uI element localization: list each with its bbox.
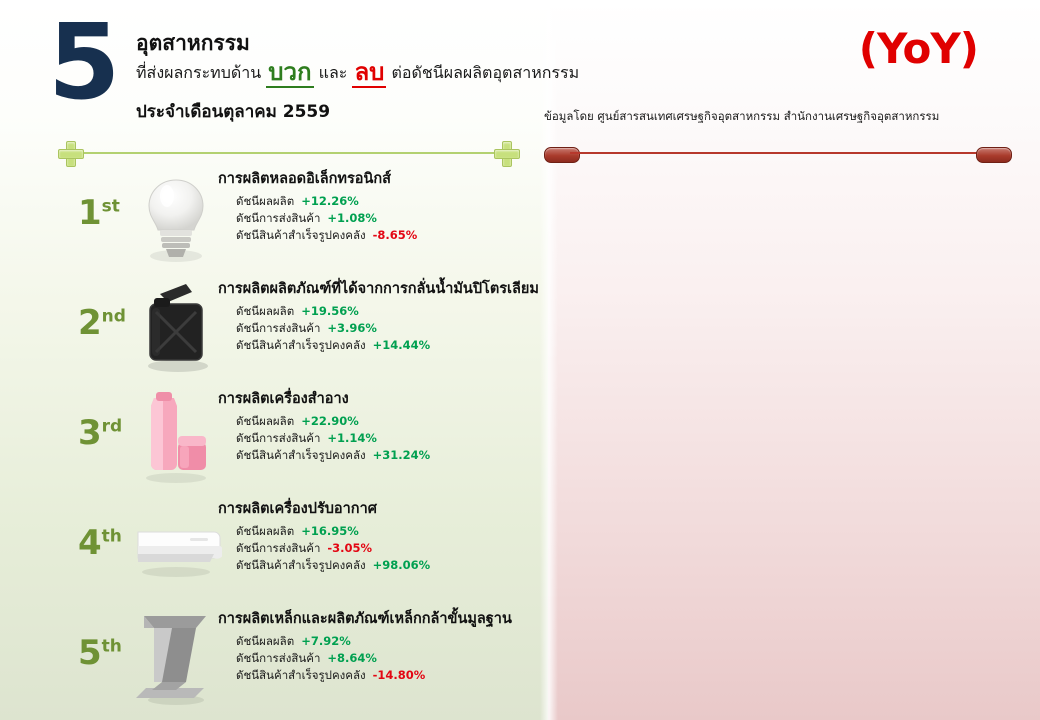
metric-row: ดัชนีสินค้าสำเร็จรูปคงคลัง+14.44%: [218, 337, 548, 354]
metric-row: ดัชนีสินค้าสำเร็จรูปคงคลัง-14.80%: [218, 667, 548, 684]
industry-name: การผลิตเครื่องปรับอากาศ: [218, 500, 548, 518]
industry-item: 1stการผลิตหลอดอิเล็กทรอนิกส์ดัชนีผลผลิต+…: [0, 162, 548, 272]
rank-badge: 2nd: [78, 306, 126, 340]
metric-value: +3.96%: [320, 321, 377, 335]
metric-label: ดัชนีผลผลิต: [236, 413, 294, 430]
rank-number: 2: [78, 303, 102, 343]
metric-label: ดัชนีสินค้าสำเร็จรูปคงคลัง: [236, 667, 366, 684]
metric-label: ดัชนีการส่งสินค้า: [236, 210, 320, 227]
metric-list: ดัชนีผลผลิต+16.95%ดัชนีการส่งสินค้า-3.05…: [218, 523, 548, 574]
metric-row: ดัชนีการส่งสินค้า+1.08%: [218, 210, 548, 227]
metric-row: ดัชนีการส่งสินค้า+8.64%: [218, 650, 548, 667]
industry-item: 3rdการผลิตเครื่องสำอางดัชนีผลผลิต+22.90%…: [0, 382, 548, 492]
fuel-can-icon: [130, 278, 222, 376]
headline-number: 5: [48, 10, 117, 114]
divider-rule: [570, 152, 986, 154]
metric-label: ดัชนีสินค้าสำเร็จรูปคงคลัง: [236, 447, 366, 464]
metric-row: ดัชนีสินค้าสำเร็จรูปคงคลัง+31.24%: [218, 447, 548, 464]
metric-label: ดัชนีผลผลิต: [236, 303, 294, 320]
industry-item: 4thการผลิตเครื่องปรับอากาศดัชนีผลผลิต+16…: [0, 492, 548, 602]
metric-label: ดัชนีการส่งสินค้า: [236, 320, 320, 337]
metric-label: ดัชนีผลผลิต: [236, 633, 294, 650]
metric-label: ดัชนีสินค้าสำเร็จรูปคงคลัง: [236, 557, 366, 574]
industry-name: การผลิตหลอดอิเล็กทรอนิกส์: [218, 170, 548, 188]
rank-number: 5: [78, 633, 102, 673]
metric-label: ดัชนีสินค้าสำเร็จรูปคงคลัง: [236, 337, 366, 354]
industry-item: 5thการผลิตเหล็กและผลิตภัณฑ์เหล็กกล้าขั้น…: [0, 602, 548, 712]
minus-icon: [544, 147, 580, 163]
keyword-positive: บวก: [266, 58, 313, 88]
metric-value: +7.92%: [294, 634, 351, 648]
metric-value: +98.06%: [366, 558, 431, 572]
metric-value: +31.24%: [366, 448, 431, 462]
metric-value: -14.80%: [366, 668, 426, 682]
metric-label: ดัชนีการส่งสินค้า: [236, 430, 320, 447]
divider-rule: [84, 152, 494, 154]
source-credit: ข้อมูลโดย ศูนย์สารสนเทศเศรษฐกิจอุตสาหกรร…: [544, 108, 939, 126]
metric-row: ดัชนีผลผลิต+7.92%: [218, 633, 548, 650]
headline-line-1: อุตสาหกรรม: [136, 30, 566, 56]
headline-suffix: ต่อดัชนีผลผลิตอุตสาหกรรม: [392, 63, 580, 82]
industry-text-block: การผลิตหลอดอิเล็กทรอนิกส์ดัชนีผลผลิต+12.…: [218, 170, 548, 244]
rank-suffix: th: [102, 527, 122, 547]
headline-block: อุตสาหกรรม ที่ส่งผลกระทบด้าน บวก และ ลบ …: [136, 30, 566, 125]
industry-name: การผลิตผลิตภัณฑ์ที่ได้จากการกลั่นน้ำมันป…: [218, 280, 548, 298]
industry-name: การผลิตเหล็กและผลิตภัณฑ์เหล็กกล้าขั้นมูล…: [218, 610, 548, 628]
metric-row: ดัชนีการส่งสินค้า-3.05%: [218, 540, 548, 557]
metric-row: ดัชนีผลผลิต+16.95%: [218, 523, 548, 540]
industry-item: 2ndการผลิตเฟอร์นิเจอร์ดัชนีผลผลิต-39.15%…: [548, 272, 1040, 382]
industry-item: 1stการผลิตยานยนต์ดัชนีผลผลิต-6.77%ดัชนีก…: [548, 162, 1040, 272]
headline-prefix: ที่ส่งผลกระทบด้าน: [136, 63, 261, 82]
metric-label: ดัชนีการส่งสินค้า: [236, 650, 320, 667]
positive-industry-list: 1stการผลิตหลอดอิเล็กทรอนิกส์ดัชนีผลผลิต+…: [0, 162, 548, 712]
metric-value: +22.90%: [294, 414, 359, 428]
metric-label: ดัชนีสินค้าสำเร็จรูปคงคลัง: [236, 227, 366, 244]
metric-list: ดัชนีผลผลิต+7.92%ดัชนีการส่งสินค้า+8.64%…: [218, 633, 548, 684]
rank-badge: 3rd: [78, 416, 122, 450]
metric-list: ดัชนีผลผลิต+19.56%ดัชนีการส่งสินค้า+3.96…: [218, 303, 548, 354]
industry-text-block: การผลิตผลิตภัณฑ์ที่ได้จากการกลั่นน้ำมันป…: [218, 280, 548, 354]
rank-number: 4: [78, 523, 102, 563]
industry-item: 4thการผลิตผลิตภัณฑ์ยางอื่น ๆดัชนีผลผลิต-…: [548, 492, 1040, 602]
rank-badge: 5th: [78, 636, 122, 670]
metric-value: -3.05%: [320, 541, 372, 555]
metric-label: ดัชนีผลผลิต: [236, 193, 294, 210]
rank-badge: 1st: [78, 196, 120, 230]
lightbulb-icon: [130, 168, 222, 266]
industry-item: 2ndการผลิตผลิตภัณฑ์ที่ได้จากการกลั่นน้ำม…: [0, 272, 548, 382]
industry-item: 5thการผลิตน้ำมันพืช น้ำมันจากสัตว์ดัชนีผ…: [548, 602, 1040, 712]
metric-value: -8.65%: [366, 228, 418, 242]
metric-list: ดัชนีผลผลิต+22.90%ดัชนีการส่งสินค้า+1.14…: [218, 413, 548, 464]
industry-text-block: การผลิตเหล็กและผลิตภัณฑ์เหล็กกล้าขั้นมูล…: [218, 610, 548, 684]
metric-row: ดัชนีผลผลิต+12.26%: [218, 193, 548, 210]
negative-industry-list: 1stการผลิตยานยนต์ดัชนีผลผลิต-6.77%ดัชนีก…: [548, 162, 1040, 712]
rank-suffix: nd: [102, 307, 126, 327]
industry-text-block: การผลิตเครื่องปรับอากาศดัชนีผลผลิต+16.95…: [218, 500, 548, 574]
metric-label: ดัชนีการส่งสินค้า: [236, 540, 320, 557]
metric-row: ดัชนีสินค้าสำเร็จรูปคงคลัง+98.06%: [218, 557, 548, 574]
keyword-negative: ลบ: [352, 58, 386, 88]
metric-value: +19.56%: [294, 304, 359, 318]
industry-name: การผลิตเครื่องสำอาง: [218, 390, 548, 408]
metric-row: ดัชนีสินค้าสำเร็จรูปคงคลัง-8.65%: [218, 227, 548, 244]
minus-icon: [976, 147, 1012, 163]
rank-number: 3: [78, 413, 102, 453]
rank-number: 1: [78, 193, 102, 233]
rank-suffix: st: [102, 197, 120, 217]
infographic-root: 5 อุตสาหกรรม ที่ส่งผลกระทบด้าน บวก และ ล…: [0, 0, 1040, 720]
rank-badge: 4th: [78, 526, 122, 560]
metric-value: +12.26%: [294, 194, 359, 208]
headline-conjunction: และ: [319, 63, 348, 82]
metric-label: ดัชนีผลผลิต: [236, 523, 294, 540]
metric-row: ดัชนีผลผลิต+22.90%: [218, 413, 548, 430]
rank-suffix: th: [102, 637, 122, 657]
rank-suffix: rd: [102, 417, 123, 437]
metric-value: +8.64%: [320, 651, 377, 665]
metric-value: +1.14%: [320, 431, 377, 445]
metric-row: ดัชนีการส่งสินค้า+3.96%: [218, 320, 548, 337]
metric-list: ดัชนีผลผลิต+12.26%ดัชนีการส่งสินค้า+1.08…: [218, 193, 548, 244]
metric-value: +14.44%: [366, 338, 431, 352]
industry-text-block: การผลิตเครื่องสำอางดัชนีผลผลิต+22.90%ดัช…: [218, 390, 548, 464]
headline-line-2: ที่ส่งผลกระทบด้าน บวก และ ลบ ต่อดัชนีผลผ…: [136, 57, 566, 88]
cosmetics-icon: [130, 388, 222, 486]
air-conditioner-icon: [130, 498, 222, 596]
metric-row: ดัชนีการส่งสินค้า+1.14%: [218, 430, 548, 447]
steel-beam-icon: [130, 608, 222, 706]
metric-row: ดัชนีผลผลิต+19.56%: [218, 303, 548, 320]
yoy-label: (YoY): [859, 24, 978, 73]
metric-value: +1.08%: [320, 211, 377, 225]
metric-value: +16.95%: [294, 524, 359, 538]
headline-period: ประจำเดือนตุลาคม 2559: [136, 98, 566, 125]
industry-item: 3rdการผลิตอุปกรณ์สำหรับยานยนต์ และเครื่อ…: [548, 382, 1040, 492]
